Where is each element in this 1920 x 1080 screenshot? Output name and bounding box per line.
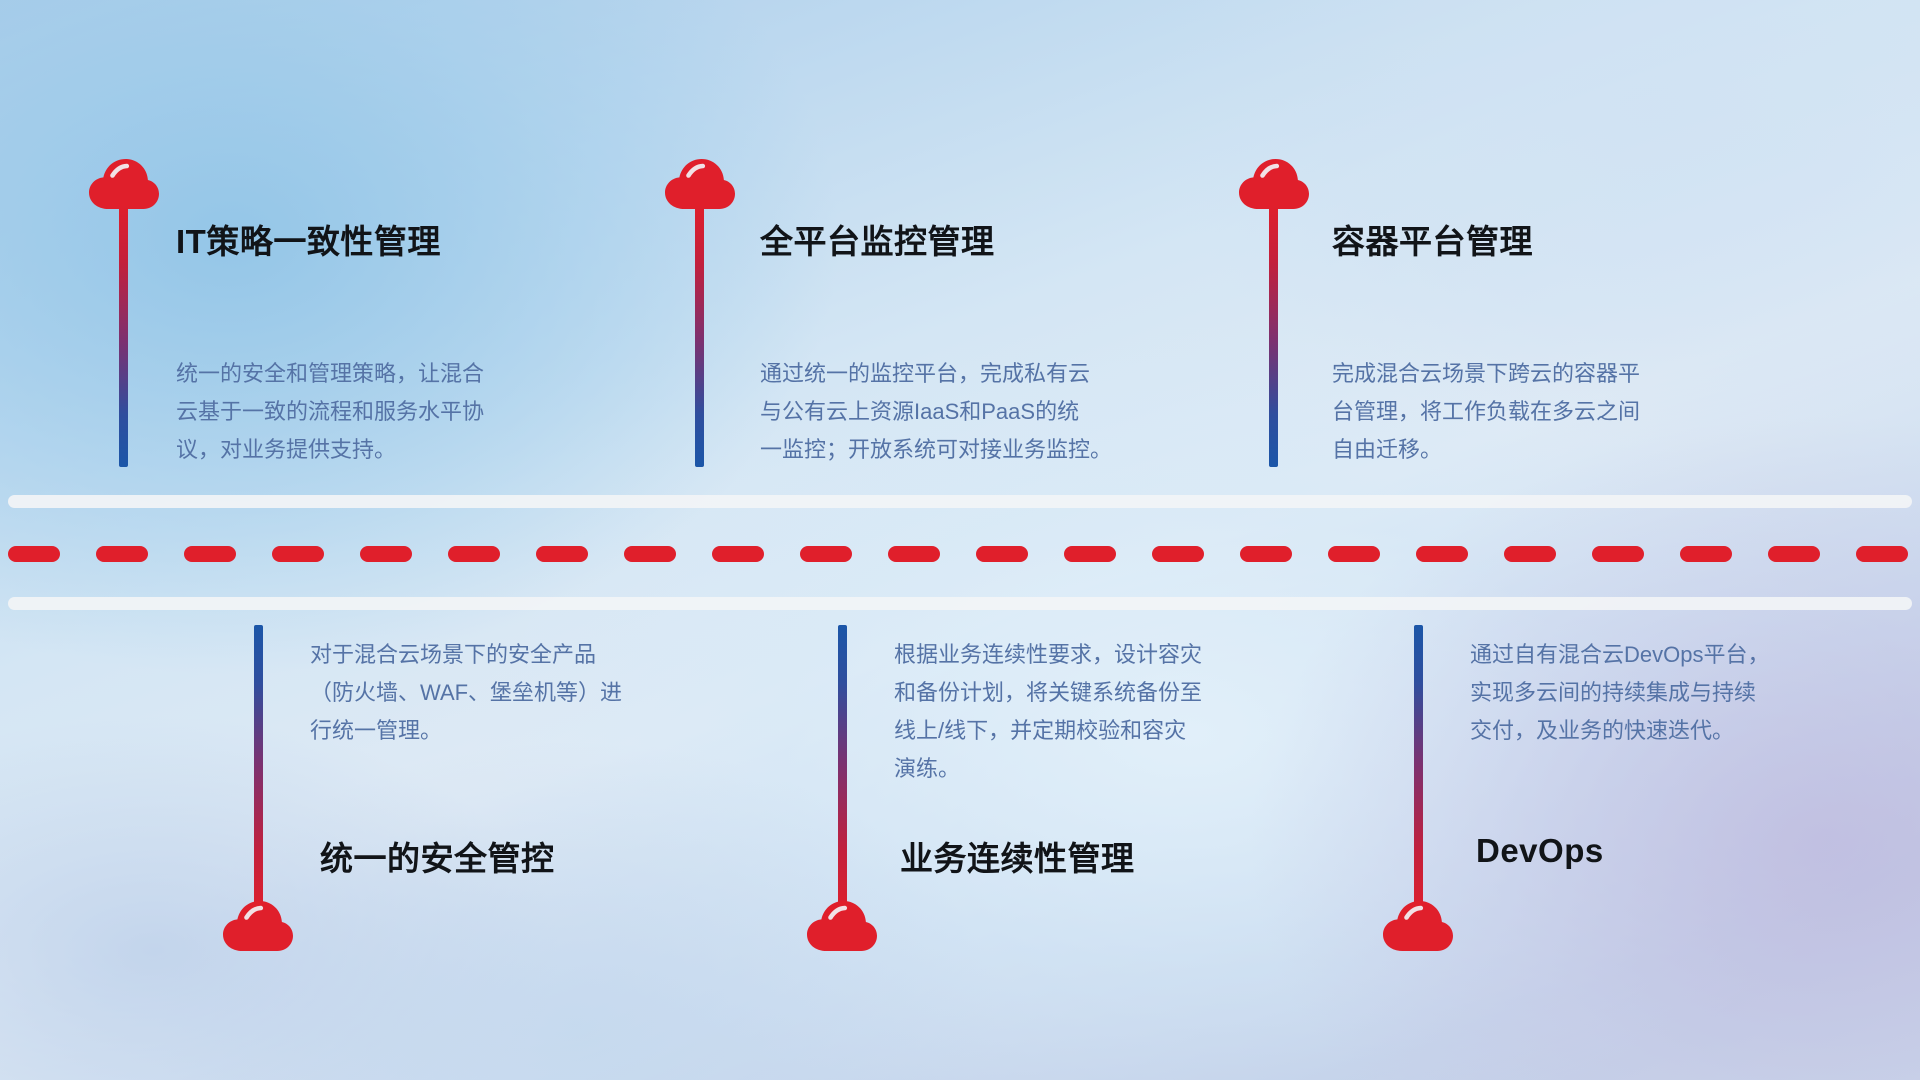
divider-dash [1240,546,1292,562]
connector-bar [119,205,128,467]
description-business-continuity-management: 根据业务连续性要求，设计容灾 和备份计划，将关键系统备份至 线上/线下，并定期校… [894,636,1324,788]
cloud-icon [1238,158,1310,210]
description-full-platform-monitoring: 通过统一的监控平台，完成私有云 与公有云上资源IaaS和PaaS的统 一监控；开… [760,355,1210,469]
divider-rail-top [8,495,1912,508]
description-container-platform-management: 完成混合云场景下跨云的容器平 台管理，将工作负载在多云之间 自由迁移。 [1332,355,1772,469]
divider-dash [800,546,852,562]
divider-dash [1592,546,1644,562]
divider-dash [448,546,500,562]
description-unified-security-control: 对于混合云场景下的安全产品 （防火墙、WAF、堡垒机等）进 行统一管理。 [310,636,740,750]
heading-it-policy-consistency: IT策略一致性管理 [176,215,441,263]
divider-dash [184,546,236,562]
cloud-icon [806,900,878,952]
description-devops: 通过自有混合云DevOps平台， 实现多云间的持续集成与持续 交付，及业务的快速… [1470,636,1910,750]
cloud-icon [222,900,294,952]
divider-dash [272,546,324,562]
connector-bar [1414,625,1423,915]
connector-bar [695,205,704,467]
connector-bar [1269,205,1278,467]
divider-dash [888,546,940,562]
divider-dash [624,546,676,562]
divider-dashed-line [0,545,1920,563]
divider-dash [536,546,588,562]
heading-business-continuity-management: 业务连续性管理 [900,832,1135,880]
infographic-canvas: IT策略一致性管理 统一的安全和管理策略，让混合 云基于一致的流程和服务水平协 … [0,0,1920,1080]
divider-dash [1680,546,1732,562]
cloud-icon [88,158,160,210]
divider-dash [1064,546,1116,562]
divider-dash [1152,546,1204,562]
divider-dash [1328,546,1380,562]
connector-bar [838,625,847,915]
heading-unified-security-control: 统一的安全管控 [320,832,555,880]
divider-dash [1856,546,1908,562]
heading-container-platform-management: 容器平台管理 [1332,215,1533,263]
cloud-icon [664,158,736,210]
cloud-icon [1382,900,1454,952]
divider-rail-bottom [8,597,1912,610]
divider-dash [360,546,412,562]
divider-dash [1504,546,1556,562]
heading-devops: DevOps [1476,832,1604,870]
description-it-policy-consistency: 统一的安全和管理策略，让混合 云基于一致的流程和服务水平协 议，对业务提供支持。 [176,355,606,469]
connector-bar [254,625,263,915]
divider-dash [96,546,148,562]
divider-dash [1768,546,1820,562]
divider-dash [712,546,764,562]
divider-dash [976,546,1028,562]
divider-dash [8,546,60,562]
heading-full-platform-monitoring: 全平台监控管理 [760,215,995,263]
divider-dash [1416,546,1468,562]
